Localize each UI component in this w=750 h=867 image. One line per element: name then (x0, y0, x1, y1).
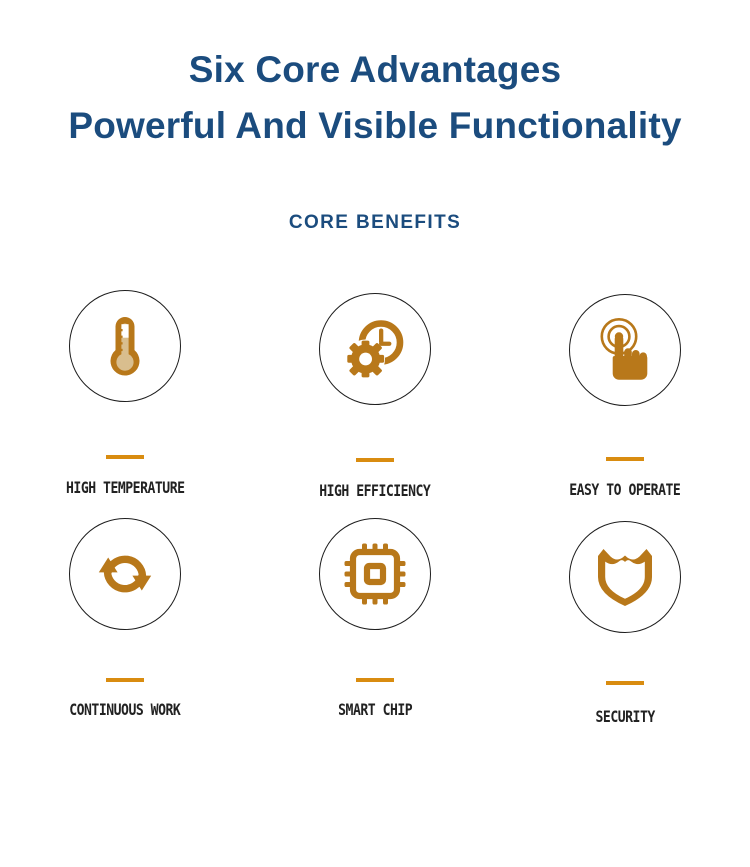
feature-label: HIGH EFFICIENCY (319, 481, 430, 500)
divider-line (356, 678, 394, 682)
cpu-chip-icon (319, 518, 431, 630)
divider-line (356, 458, 394, 462)
page-subtitle: CORE BENEFITS (0, 212, 750, 234)
gear-clock-icon (319, 293, 431, 405)
feature-label: HIGH TEMPERATURE (66, 478, 185, 497)
feature-card-high-efficiency[interactable]: HIGH EFFICIENCY (250, 290, 500, 500)
divider-line (606, 681, 644, 685)
shield-icon (569, 521, 681, 633)
thermometer-icon (69, 290, 181, 402)
features-row-1: HIGH TEMPERATURE (0, 290, 750, 500)
refresh-cycle-icon (69, 518, 181, 630)
feature-label: CONTINUOUS WORK (69, 700, 180, 719)
feature-label: EASY TO OPERATE (569, 480, 680, 499)
feature-card-security[interactable]: SECURITY (500, 518, 750, 726)
feature-card-easy-to-operate[interactable]: EASY TO OPERATE (500, 290, 750, 500)
features-grid: HIGH TEMPERATURE (0, 290, 750, 726)
page-title-line-1: Six Core Advantages (0, 42, 750, 98)
feature-card-smart-chip[interactable]: SMART CHIP (250, 518, 500, 726)
features-row-2: CONTINUOUS WORK (0, 518, 750, 726)
feature-label: SMART CHIP (338, 700, 412, 719)
divider-line (606, 457, 644, 461)
divider-line (106, 455, 144, 459)
feature-card-high-temperature[interactable]: HIGH TEMPERATURE (0, 290, 250, 500)
advantages-page: Six Core Advantages Powerful And Visible… (0, 0, 750, 867)
feature-label: SECURITY (595, 707, 654, 726)
page-title-line-2: Powerful And Visible Functionality (0, 98, 750, 154)
touch-hand-icon (569, 294, 681, 406)
feature-card-continuous-work[interactable]: CONTINUOUS WORK (0, 518, 250, 726)
divider-line (106, 678, 144, 682)
page-heading: Six Core Advantages Powerful And Visible… (0, 42, 750, 154)
